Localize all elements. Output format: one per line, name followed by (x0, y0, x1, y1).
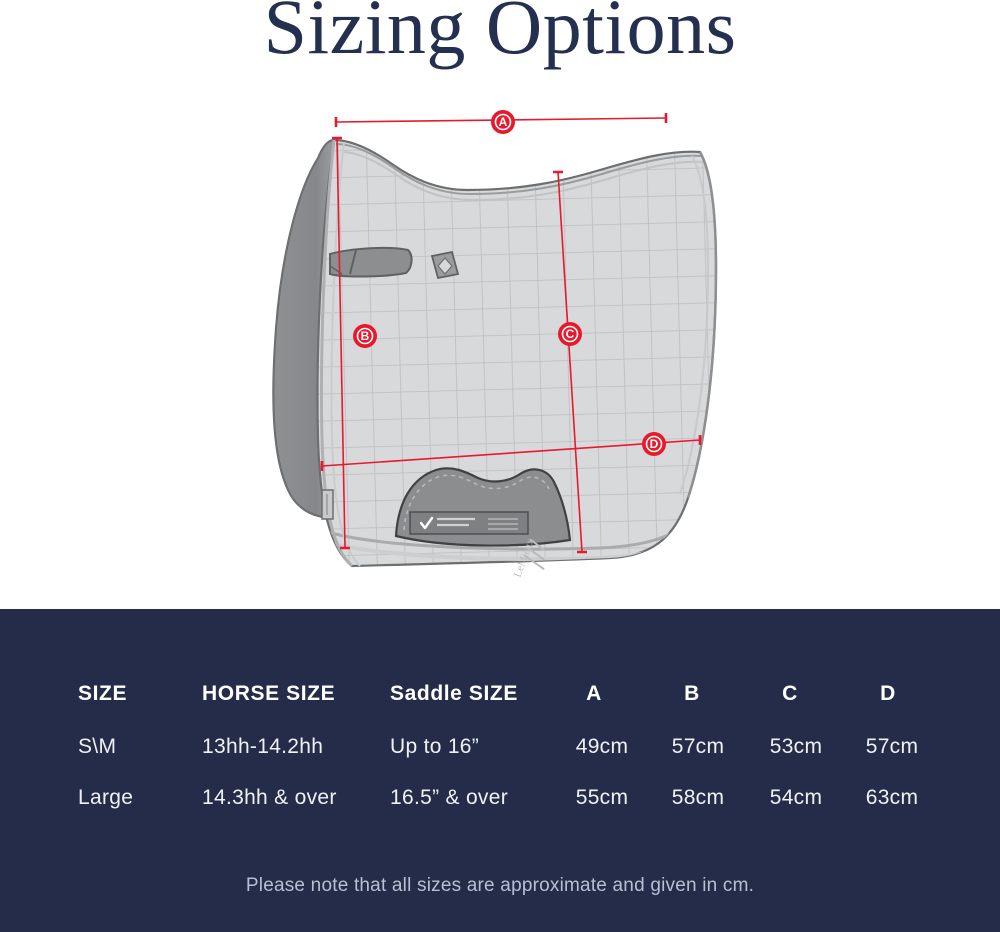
marker-label-b: B (361, 329, 370, 343)
col-header-horse-size: HORSE SIZE (202, 682, 335, 706)
sizing-options-page: Sizing Options (0, 0, 1000, 932)
marker-badge-d: D (642, 432, 666, 456)
side-brand-tag (322, 490, 333, 519)
col-header-saddle-size: Saddle SIZE (390, 682, 518, 706)
cell-size: S\M (78, 735, 116, 759)
marker-badge-b: B (353, 324, 377, 348)
billet-strap-detail (330, 248, 412, 277)
marker-label-c: C (566, 327, 575, 341)
col-header-size: SIZE (78, 682, 127, 706)
page-title-container: Sizing Options (0, 0, 1000, 74)
cell-d: 63cm (862, 786, 922, 810)
col-header-a: A (572, 682, 616, 706)
page-title: Sizing Options (0, 0, 1000, 72)
marker-badge-a: A (491, 110, 515, 134)
cell-size: Large (78, 786, 133, 810)
cell-c: 53cm (766, 735, 826, 759)
col-header-d: D (866, 682, 910, 706)
sizing-note: Please note that all sizes are approxima… (0, 875, 1000, 897)
cell-a: 49cm (572, 735, 632, 759)
cell-c: 54cm (766, 786, 826, 810)
marker-label-d: D (650, 437, 659, 451)
col-header-c: C (768, 682, 812, 706)
cell-horse-size: 13hh-14.2hh (202, 735, 323, 759)
cell-b: 58cm (668, 786, 728, 810)
cell-d: 57cm (862, 735, 922, 759)
saddle-pad-diagram: LeMieux (0, 78, 1000, 610)
cell-saddle-size: 16.5” & over (390, 786, 508, 810)
col-header-b: B (670, 682, 714, 706)
cell-a: 55cm (572, 786, 632, 810)
cell-saddle-size: Up to 16” (390, 735, 479, 759)
cell-horse-size: 14.3hh & over (202, 786, 337, 810)
cell-b: 57cm (668, 735, 728, 759)
marker-label-a: A (499, 115, 508, 129)
saddle-pad-illustration: LeMieux (0, 78, 1000, 610)
marker-badge-c: C (558, 322, 582, 346)
